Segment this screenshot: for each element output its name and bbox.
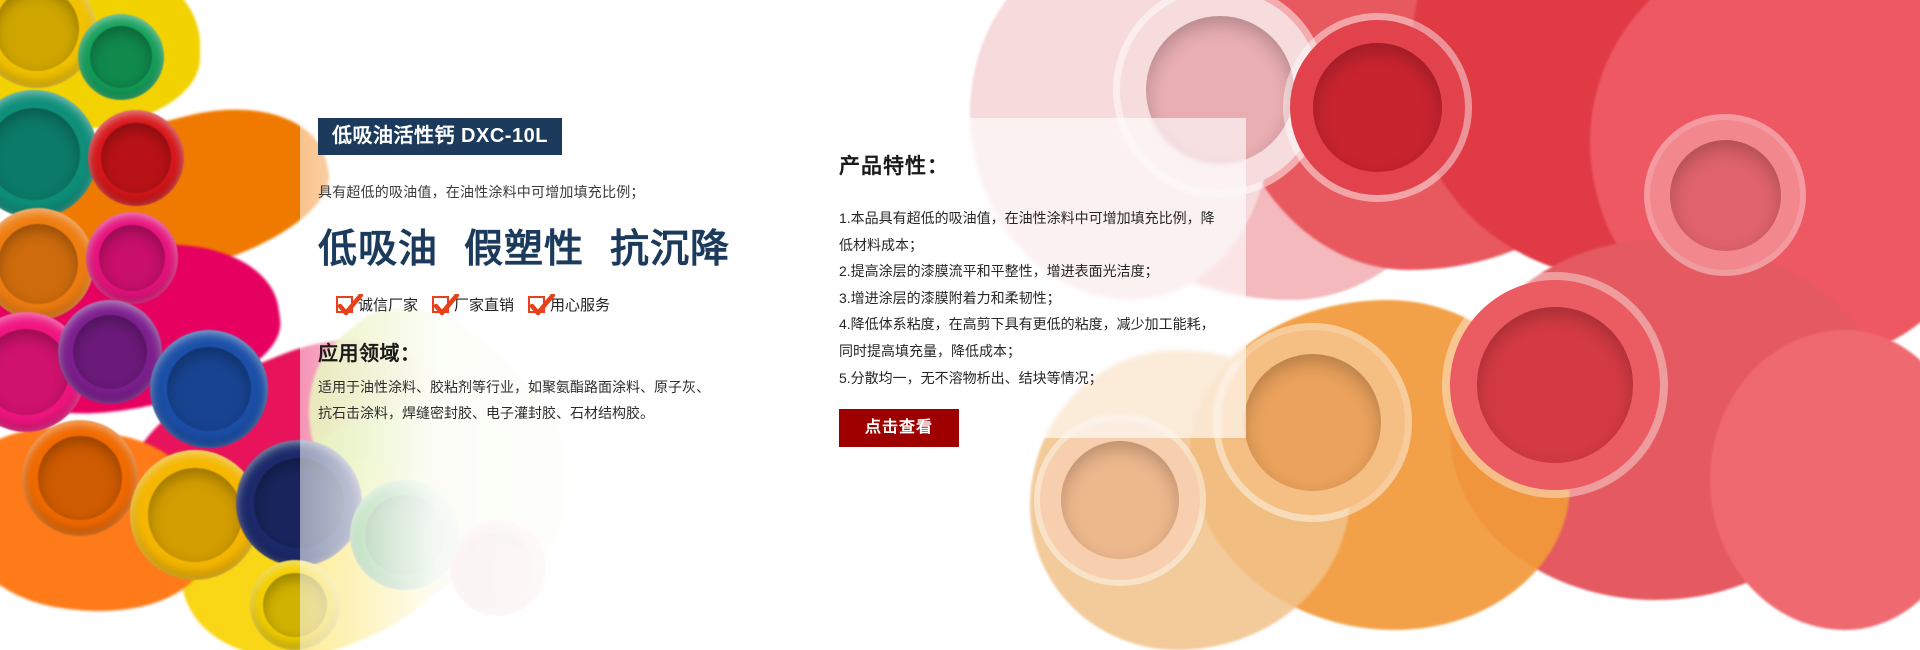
- trust-badge-3: 用心服务: [528, 294, 610, 315]
- feature-item: 3.增进涂层的漆膜附着力和柔韧性；: [839, 285, 1216, 312]
- feature-item: 2.提高涂层的漆膜流平和平整性，增进表面光洁度；: [839, 258, 1216, 285]
- trust-badge-1-label: 诚信厂家: [358, 294, 418, 315]
- view-details-button[interactable]: 点击查看: [839, 409, 959, 447]
- headline-keyword-1: 低吸油: [318, 228, 438, 271]
- headline-keyword-3: 抗沉降: [610, 228, 730, 271]
- feature-item: 1.本品具有超低的吸油值，在油性涂料中可增加填充比例，降低材料成本；: [839, 205, 1216, 258]
- check-box-icon: [528, 296, 545, 313]
- check-box-icon: [432, 296, 449, 313]
- product-features-list: 1.本品具有超低的吸油值，在油性涂料中可增加填充比例，降低材料成本； 2.提高涂…: [839, 205, 1216, 391]
- check-box-icon: [336, 296, 353, 313]
- trust-badge-2: 厂家直销: [432, 294, 514, 315]
- trust-badge-row: 诚信厂家 厂家直销 用心服务: [318, 294, 748, 315]
- headline-keyword-2: 假塑性: [464, 228, 584, 271]
- application-fields-heading: 应用领域：: [318, 337, 748, 366]
- trust-badge-1: 诚信厂家: [336, 294, 418, 315]
- application-fields-body: 适用于油性涂料、胶粘剂等行业，如聚氨酯路面涂料、原子灰、抗石击涂料，焊缝密封胶、…: [318, 375, 718, 427]
- feature-item: 4.降低体系粘度，在高剪下具有更低的粘度，减少加工能耗，同时提高填充量，降低成本…: [839, 311, 1216, 364]
- product-features-heading: 产品特性：: [839, 150, 1216, 180]
- product-features-panel: 产品特性： 1.本品具有超低的吸油值，在油性涂料中可增加填充比例，降低材料成本；…: [803, 118, 1246, 438]
- left-text-column: 低吸油活性钙 DXC-10L 具有超低的吸油值，在油性涂料中可增加填充比例； 低…: [318, 118, 748, 427]
- headline-keywords: 低吸油假塑性抗沉降: [318, 218, 748, 274]
- trust-badge-3-label: 用心服务: [550, 294, 610, 315]
- promo-banner: 低吸油活性钙 DXC-10L 具有超低的吸油值，在油性涂料中可增加填充比例； 低…: [0, 0, 1920, 650]
- feature-item: 5.分散均一，无不溶物析出、结块等情况；: [839, 365, 1216, 392]
- product-subtitle: 具有超低的吸油值，在油性涂料中可增加填充比例；: [318, 182, 748, 202]
- trust-badge-2-label: 厂家直销: [454, 294, 514, 315]
- product-title-badge: 低吸油活性钙 DXC-10L: [318, 118, 562, 155]
